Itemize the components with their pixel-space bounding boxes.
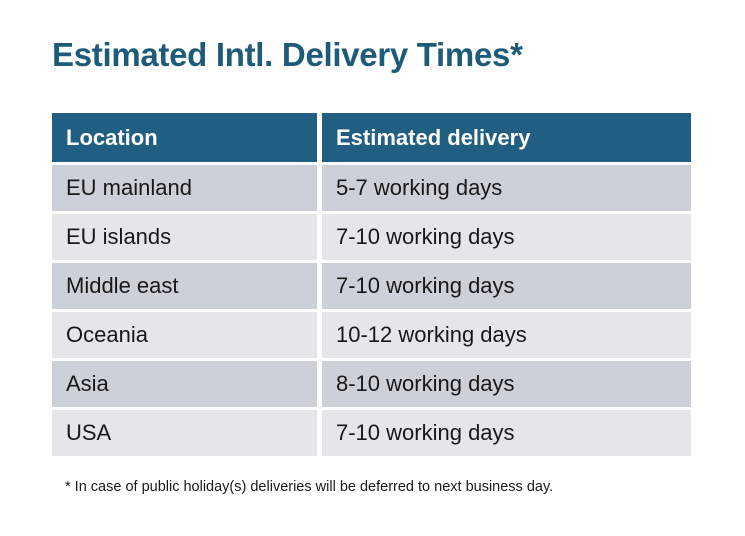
table-row: Asia 8-10 working days bbox=[52, 361, 691, 407]
cell-location: USA bbox=[52, 410, 317, 456]
cell-location: EU mainland bbox=[52, 165, 317, 211]
cell-estimated-delivery: 5-7 working days bbox=[322, 165, 691, 211]
cell-estimated-delivery: 8-10 working days bbox=[322, 361, 691, 407]
table-row: Middle east 7-10 working days bbox=[52, 263, 691, 309]
table-row: EU mainland 5-7 working days bbox=[52, 165, 691, 211]
table-row: USA 7-10 working days bbox=[52, 410, 691, 456]
cell-location: Asia bbox=[52, 361, 317, 407]
delivery-times-table: Location Estimated delivery EU mainland … bbox=[52, 113, 691, 459]
page-title: Estimated Intl. Delivery Times* bbox=[52, 36, 523, 74]
delivery-times-page: Estimated Intl. Delivery Times* Location… bbox=[0, 0, 745, 536]
cell-location: Oceania bbox=[52, 312, 317, 358]
cell-estimated-delivery: 7-10 working days bbox=[322, 410, 691, 456]
column-header-estimated-delivery: Estimated delivery bbox=[322, 113, 691, 162]
table-row: EU islands 7-10 working days bbox=[52, 214, 691, 260]
column-header-location: Location bbox=[52, 113, 317, 162]
cell-estimated-delivery: 7-10 working days bbox=[322, 214, 691, 260]
table-header-row: Location Estimated delivery bbox=[52, 113, 691, 162]
table-row: Oceania 10-12 working days bbox=[52, 312, 691, 358]
cell-location: EU islands bbox=[52, 214, 317, 260]
cell-location: Middle east bbox=[52, 263, 317, 309]
cell-estimated-delivery: 10-12 working days bbox=[322, 312, 691, 358]
footnote: * In case of public holiday(s) deliverie… bbox=[65, 479, 553, 495]
cell-estimated-delivery: 7-10 working days bbox=[322, 263, 691, 309]
